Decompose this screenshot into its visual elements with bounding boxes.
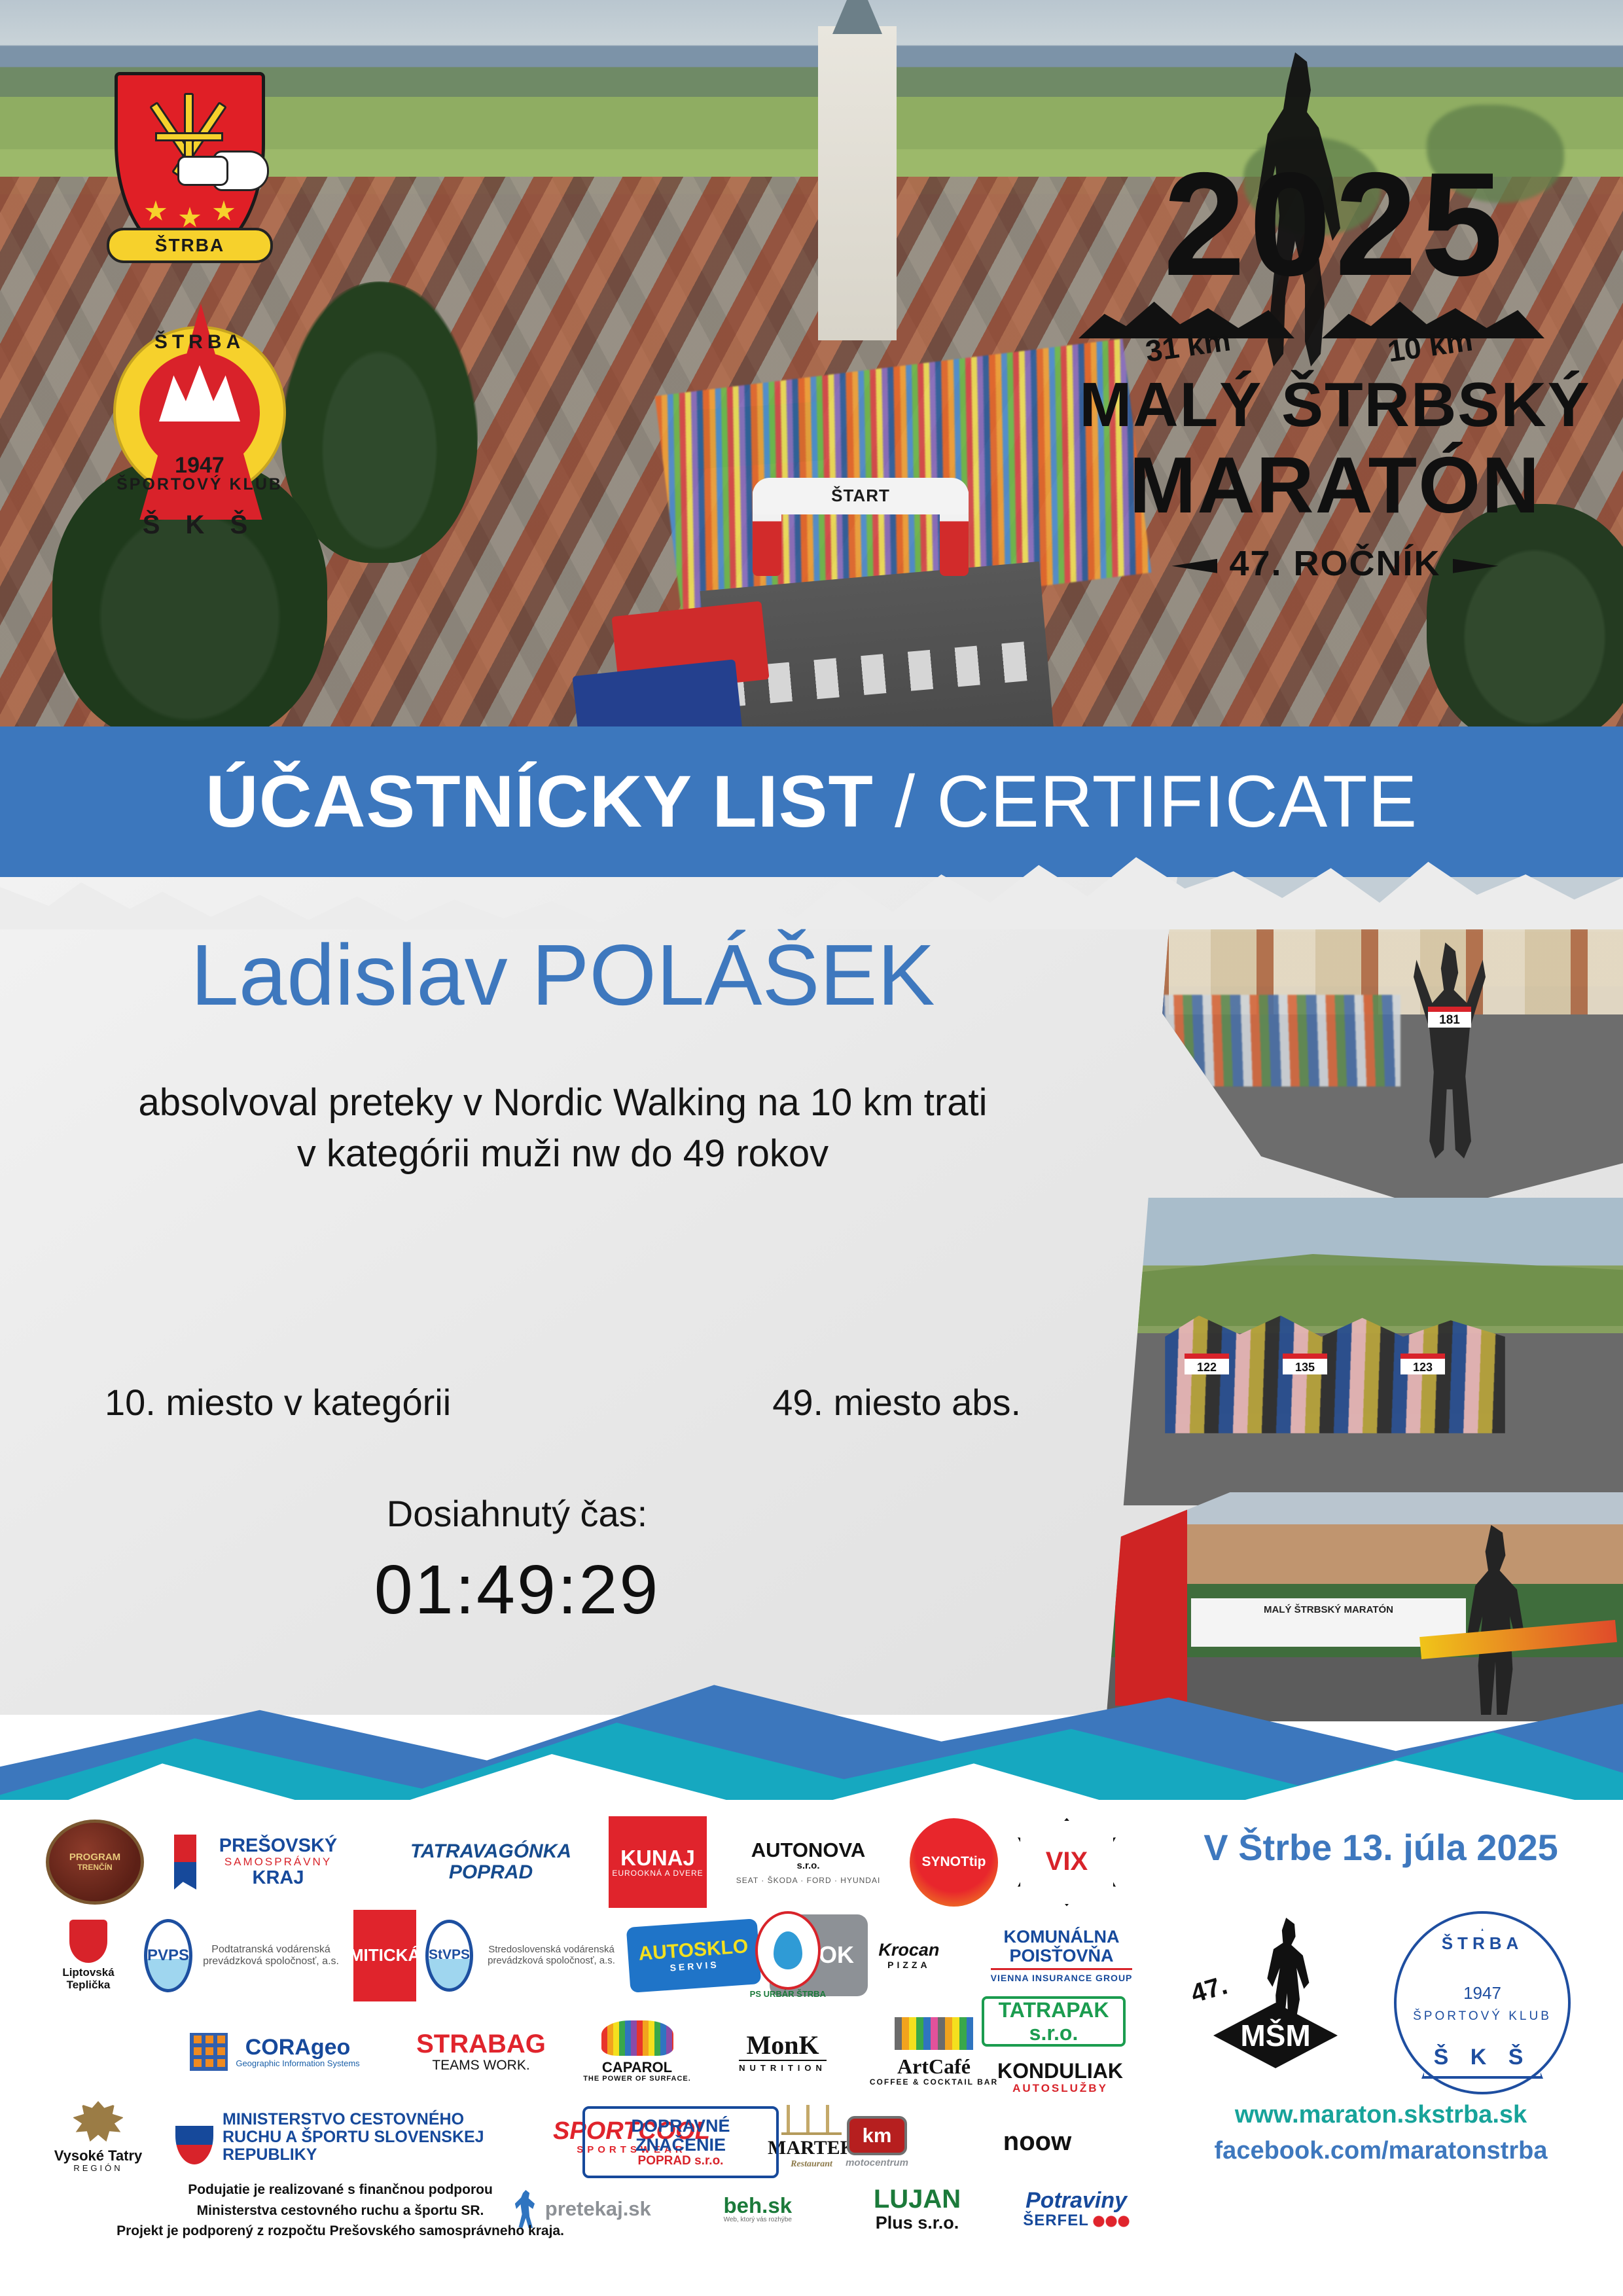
marathon-wordmark: 2025 31 km 10 km MALÝ ŠTRBSKÝ MARATÓN 47… bbox=[1047, 26, 1623, 615]
coat-icon bbox=[69, 1920, 107, 1963]
sponsor-synottip[interactable]: SYNOTtip bbox=[910, 1818, 998, 1907]
photo-runner-group: 122 135 123 bbox=[1106, 1198, 1623, 1505]
footer-right-column: V Štrbe 13. júla 2025 47. MŠM ŠTRBA 1947… bbox=[1152, 1800, 1610, 2296]
sponsor-krocan-pizza[interactable]: Krocan PIZZA bbox=[856, 1910, 962, 2001]
distance-block: 31 km 10 km bbox=[1047, 291, 1623, 370]
certificate-title-banner: ÚČASTNÍCKY LIST / CERTIFICATE bbox=[0, 726, 1623, 877]
msm-stamp-edition: 47. bbox=[1188, 1971, 1231, 2009]
sponsor-monk-nutrition[interactable]: MonK NUTRITION bbox=[714, 2013, 851, 2091]
sponsor-label: Potraviny bbox=[1026, 2189, 1127, 2213]
sponsor-vix[interactable]: VIX bbox=[1018, 1818, 1116, 1907]
disclaimer-line-2: Ministerstva cestovného ruchu a športu S… bbox=[79, 2200, 602, 2221]
sponsor-program-trencin[interactable]: PROGRAM TRENČÍN bbox=[46, 1820, 144, 1905]
sponsor-artcafe[interactable]: ArtCafé COFFEE & COCKTAIL BAR bbox=[868, 2009, 999, 2094]
flag-icon bbox=[174, 1835, 196, 1890]
sponsor-label: AUTONOVA bbox=[751, 1839, 866, 1861]
sponsor-sublabel: Podtatranská vodárenská prevádzková spol… bbox=[202, 1944, 340, 1967]
sponsor-strabag[interactable]: STRABAG TEAMS WORK. bbox=[406, 2013, 556, 2091]
disclaimer-line-1: Podujatie je realizované s finančnou pod… bbox=[79, 2179, 602, 2200]
club-logo-arc-bottom: ŠPORTOVÝ KLUB bbox=[101, 475, 298, 494]
sponsor-label: StVPS bbox=[425, 1920, 473, 1992]
chamois-emblem-icon bbox=[73, 2101, 124, 2144]
sponsor-label: DOPRAVNÉ ZNAČENIE bbox=[585, 2117, 776, 2155]
start-arch-label: ŠTART bbox=[753, 486, 969, 506]
sponsor-sublabel: Plus s.r.o. bbox=[876, 2214, 959, 2233]
place-absolute: 49. miesto abs. bbox=[772, 1381, 1021, 1424]
sks-stamp-arc: ŠPORTOVÝ KLUB bbox=[1394, 2009, 1571, 2024]
sponsor-autonova[interactable]: AUTONOVA s.r.o. SEAT · ŠKODA · FORD · HY… bbox=[726, 1820, 890, 1905]
sponsor-noow[interactable]: noow bbox=[975, 2105, 1099, 2180]
sponsor-label: KONDULIAK bbox=[997, 2060, 1123, 2083]
sponsor-label: beh.sk bbox=[724, 2193, 793, 2217]
sponsor-label: TATRAVAGÓNKA bbox=[410, 1841, 571, 1862]
race-bib-number: 181 bbox=[1428, 1007, 1471, 1028]
description-block: absolvoval preteky v Nordic Walking na 1… bbox=[0, 1077, 1126, 1179]
sponsor-sublabel: AUTOSLUŽBY bbox=[1012, 2083, 1108, 2094]
event-year: 2025 bbox=[1047, 151, 1623, 298]
sponsor-label: Krocan bbox=[878, 1941, 939, 1960]
sponsor-sublabel: TRENČÍN bbox=[77, 1863, 112, 1872]
sponsor-sublabel: Geographic Information Systems bbox=[236, 2059, 359, 2068]
sponsor-corageo[interactable]: CORAgeo Geographic Information Systems bbox=[177, 2013, 373, 2091]
sks-club-logo: ŠTRBA 1947 ŠPORTOVÝ KLUB Š K Š bbox=[101, 314, 298, 550]
sponsor-caparol[interactable]: CAPAROL THE POWER OF SURFACE. bbox=[580, 2011, 694, 2093]
sponsor-sublabel: REGIÓN bbox=[73, 2164, 122, 2173]
sponsor-label: SYNOTtip bbox=[922, 1855, 986, 1870]
time-value: 01:49:29 bbox=[0, 1551, 1034, 1630]
club-logo-arc-top: ŠTRBA bbox=[101, 331, 298, 353]
photo-collage: 181 122 135 123 MALÝ ŠTRBSKÝ MARATÓN bbox=[1106, 870, 1623, 1721]
description-line-2: v kategórii muži nw do 49 rokov bbox=[0, 1128, 1126, 1179]
time-label: Dosiahnutý čas: bbox=[0, 1492, 1034, 1535]
event-title-line1: MALÝ ŠTRBSKÝ bbox=[1047, 373, 1623, 437]
coat-ribbon-label: ŠTRBA bbox=[107, 228, 273, 263]
sponsor-beh-sk[interactable]: beh.sk Web, ktorý vás rozhýbe bbox=[682, 2175, 834, 2244]
sponsor-miticka[interactable]: MITICKÁ bbox=[353, 1910, 416, 2001]
sponsor-sublabel: Web, ktorý vás rozhýbe bbox=[724, 2217, 793, 2224]
grid-icon bbox=[190, 2033, 228, 2071]
race-bib-number: 123 bbox=[1400, 1354, 1445, 1374]
sponsor-label: TATRAPAK s.r.o. bbox=[984, 1999, 1123, 2044]
sponsor-label: PROGRAM bbox=[69, 1852, 120, 1863]
sponsor-label: km bbox=[847, 2116, 907, 2155]
sponsor-sublabel: Stredoslovenská vodárenská prevádzková s… bbox=[481, 1945, 622, 1965]
water-drop-icon bbox=[755, 1911, 821, 1990]
arch-top: ŠTART bbox=[753, 478, 969, 514]
sponsor-label: Vysoké Tatry bbox=[54, 2148, 143, 2164]
description-line-1: absolvoval preteky v Nordic Walking na 1… bbox=[0, 1077, 1126, 1128]
sponsor-kunaj[interactable]: KUNAJ EUROOKNÁ A DVERE bbox=[609, 1816, 707, 1908]
sponsor-presovsky-kraj[interactable]: PREŠOVSKÝ SAMOSPRÁVNY KRAJ bbox=[203, 1823, 353, 1901]
sks-stamp: ŠTRBA 1947 ŠPORTOVÝ KLUB Š K Š bbox=[1394, 1911, 1571, 2094]
sponsor-label: LUJAN bbox=[874, 2185, 961, 2214]
sponsor-ministerstvo[interactable]: MINISTERSTVO CESTOVNÉHO RUCHU A ŠPORTU S… bbox=[223, 2085, 497, 2189]
sponsor-stvps[interactable]: StVPS Stredoslovenská vodárenská prevádz… bbox=[425, 1913, 622, 1998]
sponsor-label: KUNAJ bbox=[620, 1846, 695, 1870]
sponsor-label: STRABAG bbox=[416, 2030, 546, 2058]
sponsor-label: PREŠOVSKÝ bbox=[219, 1836, 338, 1856]
sponsor-sublabel: POPRAD bbox=[449, 1862, 533, 1883]
arrow-right-icon bbox=[1453, 559, 1499, 573]
race-bib-number: 122 bbox=[1185, 1354, 1229, 1374]
date-place-label: V Štrbe 13. júla 2025 bbox=[1152, 1826, 1610, 1869]
sks-stamp-initials: Š K Š bbox=[1394, 2045, 1571, 2280]
page-title: ÚČASTNÍCKY LIST / CERTIFICATE bbox=[205, 765, 1418, 838]
sponsor-sublabel: motocentrum bbox=[846, 2158, 908, 2168]
sponsor-komunalna-poistovna[interactable]: KOMUNÁLNA POISŤOVŇA VIENNA INSURANCE GRO… bbox=[978, 1914, 1145, 1996]
msm-stamp-initials: MŠM bbox=[1213, 2003, 1338, 2068]
sks-stamp-year: 1947 bbox=[1394, 1983, 1571, 2003]
time-block: Dosiahnutý čas: 01:49:29 bbox=[0, 1492, 1034, 1630]
church-building bbox=[818, 26, 897, 340]
sponsor-sublabel: SAMOSPRÁVNY bbox=[224, 1856, 332, 1868]
sponsor-label: CAPAROL bbox=[602, 2060, 672, 2075]
sponsor-ps-urbar-strba[interactable]: PS URBÁR ŠTRBA bbox=[740, 1910, 836, 2001]
sponsor-vysoke-tatry[interactable]: Vysoké Tatry REGIÓN bbox=[46, 2091, 151, 2183]
sponsor-label: noow bbox=[1003, 2128, 1071, 2156]
sks-stamp-top: ŠTRBA bbox=[1394, 1933, 1571, 1954]
sponsor-label: MITICKÁ bbox=[349, 1946, 420, 1964]
sponsor-sublabel: THE POWER OF SURFACE. bbox=[583, 2075, 691, 2083]
title-light-part: / CERTIFICATE bbox=[895, 761, 1418, 842]
sponsor-row-1: PROGRAM TRENČÍN PREŠOVSKÝ SAMOSPRÁVNY KR… bbox=[46, 1813, 1145, 1911]
grass-field bbox=[1106, 1254, 1623, 1326]
sponsor-sublabel: NUTRITION bbox=[739, 2060, 827, 2073]
sponsor-label: KOMUNÁLNA POISŤOVŇA bbox=[978, 1928, 1145, 1965]
sponsor-pvps[interactable]: PVPS Podtatranská vodárenská prevádzková… bbox=[144, 1916, 340, 1995]
cross-bar-icon bbox=[155, 132, 223, 141]
sponsor-sublabel: VIENNA INSURANCE GROUP bbox=[991, 1968, 1133, 1983]
slovak-flag-icon bbox=[175, 2107, 213, 2164]
color-bars-icon bbox=[895, 2017, 973, 2050]
event-edition-label: 47. ROČNÍK bbox=[1229, 544, 1440, 583]
sponsor-logos: PROGRAM TRENČÍN PREŠOVSKÝ SAMOSPRÁVNY KR… bbox=[46, 1806, 1145, 2212]
sponsor-label: Liptovská bbox=[62, 1967, 114, 1979]
club-logo-initials: Š K Š bbox=[101, 511, 298, 540]
sponsor-sublabel: ŠERFEL bbox=[1023, 2212, 1089, 2229]
certificate-content: Ladislav POLÁŠEK absolvoval preteky v No… bbox=[0, 929, 1126, 1179]
dots-icon bbox=[1093, 2215, 1130, 2228]
footer-stamps: 47. MŠM ŠTRBA 1947 ŠPORTOVÝ KLUB Š K Š bbox=[1152, 1898, 1610, 2094]
sponsor-dopravne-znacenie[interactable]: DOPRAVNÉ ZNAČENIE POPRAD s.r.o. bbox=[582, 2106, 779, 2178]
participant-name: Ladislav POLÁŠEK bbox=[0, 929, 1126, 1021]
sponsor-tatravagonka[interactable]: TATRAVAGÓNKA POPRAD bbox=[399, 1823, 582, 1901]
sponsor-liptovska-teplicka[interactable]: Liptovská Teplička bbox=[46, 1913, 131, 1998]
sponsor-label: PVPS bbox=[144, 1919, 192, 1992]
sponsor-tatrapak[interactable]: TATRAPAK s.r.o. bbox=[982, 1996, 1126, 2047]
placement-row: 10. miesto v kategórii 49. miesto abs. bbox=[0, 1381, 1126, 1424]
sponsor-label: MonK bbox=[746, 2031, 819, 2059]
tree bbox=[281, 281, 478, 563]
sponsor-lujan-plus[interactable]: LUJAN Plus s.r.o. bbox=[853, 2172, 981, 2247]
sponsor-brands: SEAT · ŠKODA · FORD · HYUNDAI bbox=[736, 1876, 881, 1885]
sponsor-row-5: pretekaj.sk beh.sk Web, ktorý vás rozhýb… bbox=[504, 2173, 1158, 2245]
title-bold-part: ÚČASTNÍCKY LIST bbox=[205, 761, 874, 842]
start-arch: ŠTART bbox=[753, 478, 969, 576]
sponsor-label: PS URBÁR ŠTRBA bbox=[750, 1990, 826, 1999]
sponsor-potraviny-serfel[interactable]: Potraviny ŠERFEL bbox=[994, 2172, 1158, 2247]
hand-icon bbox=[177, 156, 228, 186]
event-edition-row: 47. ROČNÍK bbox=[1047, 543, 1623, 584]
disclaimer-line-3: Projekt je podporený z rozpočtu Prešovsk… bbox=[79, 2221, 602, 2242]
msm-stamp: 47. MŠM bbox=[1191, 1918, 1355, 2081]
sponsor-sublabel2: KRAJ bbox=[253, 1868, 304, 1888]
event-title-line2: MARATÓN bbox=[1047, 445, 1623, 525]
strba-coat-of-arms: ŠTRBA bbox=[115, 72, 265, 262]
race-bib-number: 135 bbox=[1283, 1354, 1327, 1374]
sponsor-sublabel: EUROOKNÁ A DVERE bbox=[612, 1869, 703, 1878]
sponsor-label: CORAgeo bbox=[245, 2035, 351, 2060]
elephant-icon bbox=[601, 2020, 673, 2056]
sponsor-sublabel: Teplička bbox=[67, 1979, 111, 1991]
arrow-left-icon bbox=[1171, 559, 1217, 573]
footer: PROGRAM TRENČÍN PREŠOVSKÝ SAMOSPRÁVNY KR… bbox=[0, 1800, 1623, 2296]
certificate-page: ŠTART ŠTRBA ŠTRBA 1947 ŠPORTOVÝ KLUB Š K… bbox=[0, 0, 1623, 2296]
sponsor-sublabel: POPRAD s.r.o. bbox=[638, 2155, 724, 2168]
sponsor-label: ArtCafé bbox=[897, 2055, 971, 2078]
funding-disclaimer: Podujatie je realizované s finančnou pod… bbox=[79, 2179, 602, 2242]
race-bib-group: 122 135 123 bbox=[1185, 1354, 1466, 1376]
sponsor-row-2b: PS URBÁR ŠTRBA Krocan PIZZA KOMUNÁLNA PO… bbox=[740, 1905, 1145, 2006]
sponsor-sublabel: TEAMS WORK. bbox=[432, 2058, 529, 2073]
place-category: 10. miesto v kategórii bbox=[105, 1381, 451, 1424]
sponsor-label: MINISTERSTVO CESTOVNÉHO RUCHU A ŠPORTU S… bbox=[223, 2111, 497, 2164]
sponsor-sublabel: s.r.o. bbox=[796, 1861, 819, 1871]
sponsor-sublabel: PIZZA bbox=[887, 1960, 930, 1970]
sponsor-label: VIX bbox=[1046, 1848, 1088, 1876]
sponsor-sublabel: COFFEE & COCKTAIL BAR bbox=[870, 2078, 998, 2087]
